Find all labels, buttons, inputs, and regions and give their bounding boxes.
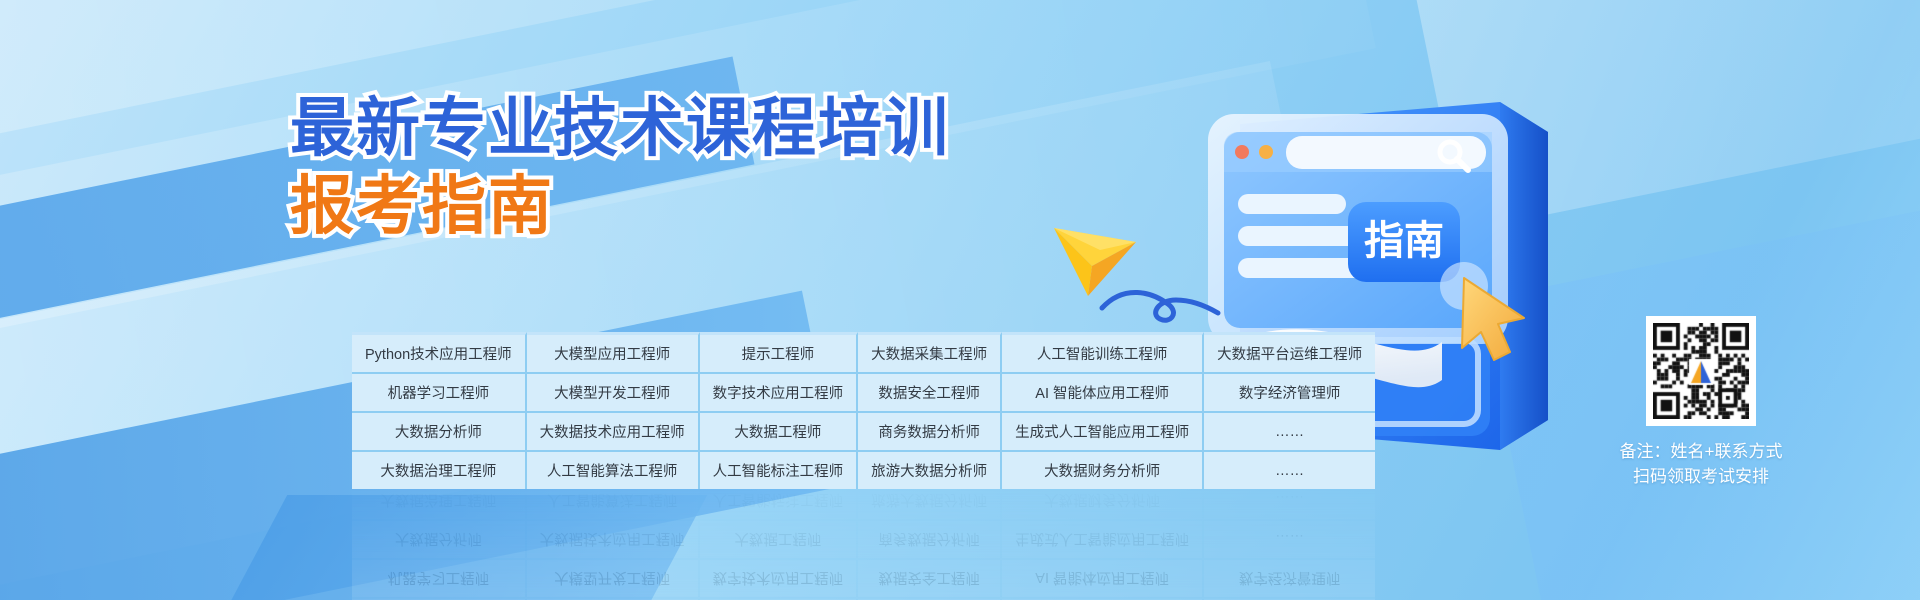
course-table: Python技术应用工程师大模型应用工程师提示工程师大数据采集工程师人工智能训练…	[352, 332, 1375, 489]
table-cell: 大数据工程师	[700, 519, 859, 558]
table-cell: 大数据财务分析师	[1002, 452, 1204, 489]
table-cell: 大数据分析师	[352, 413, 527, 452]
page-subtitle: 报考指南	[290, 174, 950, 238]
table-cell: ……	[1204, 413, 1375, 452]
table-cell: 大数据工程师	[700, 413, 859, 452]
table-row: 大数据治理工程师人工智能算法工程师人工智能标注工程师旅游大数据分析师大数据财务分…	[352, 452, 1375, 489]
table-cell: 机器学习工程师	[352, 374, 527, 413]
qr-code-icon[interactable]	[1646, 316, 1756, 426]
table-cell: 生成式人工智能应用工程师	[1002, 519, 1204, 558]
table-cell: 生成式人工智能应用工程师	[1002, 413, 1204, 452]
qr-note-line-2: 扫码领取考试安排	[1606, 465, 1796, 490]
table-cell: 大模型应用工程师	[527, 332, 700, 374]
table-cell: 数字经济管理师	[1204, 558, 1375, 597]
table-cell: 数据安全工程师	[858, 558, 1002, 597]
table-cell: AI 智能体应用工程师	[1002, 374, 1204, 413]
table-cell: ……	[1204, 519, 1375, 558]
table-cell: 数字经济管理师	[1204, 374, 1375, 413]
table-row: 机器学习工程师大模型开发工程师数字技术应用工程师数据安全工程师AI 智能体应用工…	[352, 374, 1375, 413]
table-cell: 大数据采集工程师	[858, 332, 1002, 374]
table-cell: 提示工程师	[700, 332, 859, 374]
qr-note: 备注：姓名+联系方式 扫码领取考试安排	[1606, 440, 1796, 489]
table-cell: 大数据平台运维工程师	[1204, 332, 1375, 374]
list-bar-2	[1238, 226, 1360, 246]
qr-note-line-1: 备注：姓名+联系方式	[1606, 440, 1796, 465]
orange-dot	[1259, 145, 1273, 159]
table-cell: 大模型开发工程师	[527, 374, 700, 413]
course-table-grid: Python技术应用工程师大模型应用工程师提示工程师大数据采集工程师人工智能训练…	[352, 332, 1375, 489]
list-bar-1	[1238, 194, 1346, 214]
table-cell: 商务数据分析师	[858, 519, 1002, 558]
red-dot	[1235, 145, 1249, 159]
table-cell: 数字技术应用工程师	[700, 374, 859, 413]
paper-plane-icon	[1040, 200, 1250, 330]
table-row: 大数据分析师大数据技术应用工程师大数据工程师商务数据分析师生成式人工智能应用工程…	[352, 413, 1375, 452]
table-cell: 人工智能算法工程师	[527, 452, 700, 489]
page-title: 最新专业技术课程培训	[290, 96, 950, 160]
table-cell: AI 智能体应用工程师	[1002, 558, 1204, 597]
table-cell: 人工智能训练工程师	[1002, 332, 1204, 374]
headline-group: 最新专业技术课程培训 报考指南	[290, 96, 950, 238]
table-cell: 数字技术应用工程师	[700, 558, 859, 597]
promo-banner: 最新专业技术课程培训 报考指南 Python技术应用工程师大模型应用工程师提示工…	[0, 0, 1920, 600]
qr-block: 备注：姓名+联系方式 扫码领取考试安排	[1606, 316, 1796, 489]
table-cell: 旅游大数据分析师	[858, 452, 1002, 489]
table-cell: 数据安全工程师	[858, 374, 1002, 413]
table-row: Python技术应用工程师大模型应用工程师提示工程师大数据采集工程师人工智能训练…	[352, 332, 1375, 374]
bg-parallelogram-accent	[213, 495, 707, 600]
table-cell: 大数据治理工程师	[352, 452, 527, 489]
table-cell: 大数据技术应用工程师	[527, 413, 700, 452]
table-cell: 人工智能标注工程师	[700, 452, 859, 489]
table-cell: Python技术应用工程师	[352, 332, 527, 374]
table-cell: 商务数据分析师	[858, 413, 1002, 452]
guide-button-label: 指南	[1364, 219, 1444, 263]
table-cell: ……	[1204, 452, 1375, 489]
